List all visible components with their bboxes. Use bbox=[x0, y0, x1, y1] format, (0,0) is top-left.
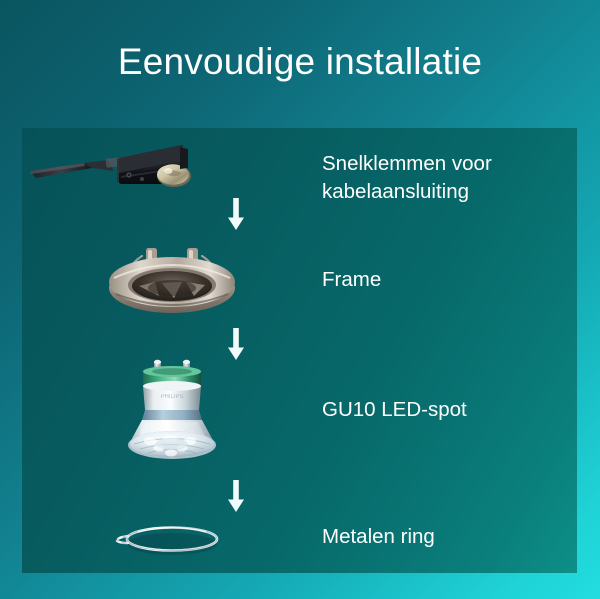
svg-text:PHILIPS: PHILIPS bbox=[160, 394, 183, 400]
arrow-down-icon-3 bbox=[225, 480, 247, 514]
diagram-panel: Snelklemmen voor kabelaansluiting bbox=[22, 128, 577, 573]
installation-diagram-image: Eenvoudige installatie bbox=[0, 0, 600, 599]
downlight-frame-photo bbox=[22, 238, 322, 323]
step-row-ring: Metalen ring bbox=[22, 513, 577, 563]
step-row-lamp: PHILIPS bbox=[22, 358, 577, 468]
arrow-down-icon-1 bbox=[225, 198, 247, 232]
terminal-block-photo bbox=[22, 138, 322, 213]
step-label-ring: Metalen ring bbox=[322, 523, 435, 551]
page-title: Eenvoudige installatie bbox=[0, 40, 600, 84]
step-label-frame: Frame bbox=[322, 266, 381, 294]
metal-retaining-ring-photo bbox=[22, 513, 322, 563]
step-label-lamp: GU10 LED-spot bbox=[322, 396, 467, 424]
step-row-terminal: Snelklemmen voor kabelaansluiting bbox=[22, 138, 577, 213]
arrow-down-icon-2 bbox=[225, 328, 247, 362]
step-label-terminal: Snelklemmen voor kabelaansluiting bbox=[322, 150, 492, 206]
step-row-frame: Frame bbox=[22, 238, 577, 323]
gu10-led-spot-photo: PHILIPS bbox=[22, 358, 322, 468]
